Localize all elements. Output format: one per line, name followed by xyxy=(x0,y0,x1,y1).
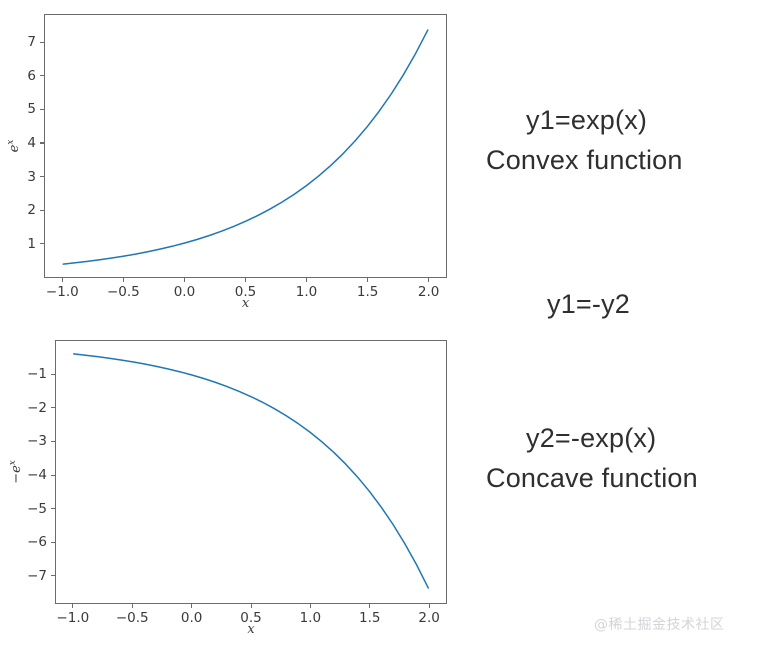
x-tick-label: 1.0 xyxy=(296,284,317,300)
x-tick-mark xyxy=(251,604,252,608)
x-tick-mark xyxy=(72,604,73,608)
annotation-convex-formula: y1=exp(x) xyxy=(486,101,683,141)
y-axis-label-top: ex xyxy=(6,140,22,153)
x-tick-mark xyxy=(62,278,63,282)
annotation-relation-text: y1=-y2 xyxy=(547,285,630,325)
plot-area-bottom xyxy=(55,340,447,604)
y-tick-label: 3 xyxy=(0,169,36,185)
y-tick-mark xyxy=(51,542,55,543)
ylabel-exponent-top: x xyxy=(6,140,16,145)
x-tick-label: 1.0 xyxy=(300,610,321,626)
y-tick-label: −2 xyxy=(0,400,47,416)
x-tick-label: 1.5 xyxy=(357,284,378,300)
annotation-concave-caption: Concave function xyxy=(486,459,698,499)
axes-bottom-neg-exp: −1.0−0.50.00.51.01.52.0−1−2−3−4−5−6−7 x … xyxy=(0,326,470,656)
x-tick-mark xyxy=(429,604,430,608)
y-axis-label-bottom: −ex xyxy=(8,460,24,484)
y-tick-mark xyxy=(51,441,55,442)
y-tick-mark xyxy=(40,210,44,211)
x-tick-label: −1.0 xyxy=(46,284,79,300)
y-tick-mark xyxy=(40,42,44,43)
x-axis-label-bottom: x xyxy=(247,622,254,637)
y-tick-label: 7 xyxy=(0,34,36,50)
y-tick-mark xyxy=(40,75,44,76)
y-tick-mark xyxy=(40,142,44,143)
ylabel-exponent-bottom: x xyxy=(8,460,18,465)
x-tick-mark xyxy=(306,278,307,282)
curve-neg-exp-x xyxy=(56,341,446,603)
y-tick-label: −7 xyxy=(0,568,47,584)
y-tick-label: −5 xyxy=(0,501,47,517)
y-tick-mark xyxy=(40,109,44,110)
annotation-concave: y2=-exp(x) Concave function xyxy=(486,419,698,499)
watermark-text: @稀土掘金技术社区 xyxy=(594,614,725,634)
annotation-concave-formula: y2=-exp(x) xyxy=(486,419,698,459)
x-axis-label-top: x xyxy=(242,296,249,311)
y-tick-mark xyxy=(51,508,55,509)
x-tick-mark xyxy=(428,278,429,282)
y-tick-label: −1 xyxy=(0,366,47,382)
y-tick-label: 1 xyxy=(0,236,36,252)
annotation-convex: y1=exp(x) Convex function xyxy=(486,101,683,181)
ylabel-base-bottom: −e xyxy=(9,465,24,484)
x-tick-mark xyxy=(245,278,246,282)
annotation-relation: y1=-y2 xyxy=(547,285,630,325)
y-tick-mark xyxy=(51,374,55,375)
data-line xyxy=(63,30,428,264)
x-tick-mark xyxy=(132,604,133,608)
y-tick-label: −6 xyxy=(0,534,47,550)
data-line xyxy=(74,354,429,588)
x-tick-mark xyxy=(310,604,311,608)
y-tick-label: −3 xyxy=(0,433,47,449)
x-tick-label: 1.5 xyxy=(359,610,380,626)
x-tick-mark xyxy=(123,278,124,282)
x-tick-label: −0.5 xyxy=(107,284,140,300)
x-tick-mark xyxy=(184,278,185,282)
x-tick-label: 2.0 xyxy=(418,284,439,300)
x-tick-label: 0.0 xyxy=(181,610,202,626)
x-tick-label: 2.0 xyxy=(418,610,439,626)
y-tick-mark xyxy=(51,407,55,408)
x-tick-label: 0.0 xyxy=(174,284,195,300)
y-tick-label: 6 xyxy=(0,68,36,84)
y-tick-mark xyxy=(40,243,44,244)
axes-top-exp: −1.0−0.50.00.51.01.52.01234567 x ex xyxy=(0,0,470,320)
curve-exp-x xyxy=(45,15,446,277)
matplotlib-figure: −1.0−0.50.00.51.01.52.01234567 x ex −1.0… xyxy=(0,0,773,665)
y-tick-mark xyxy=(51,575,55,576)
x-tick-label: −0.5 xyxy=(116,610,149,626)
ylabel-base-top: e xyxy=(7,145,22,153)
x-tick-mark xyxy=(369,604,370,608)
y-tick-mark xyxy=(51,475,55,476)
y-tick-mark xyxy=(40,176,44,177)
plot-area-top xyxy=(44,14,447,278)
annotation-convex-caption: Convex function xyxy=(486,141,683,181)
x-tick-label: −1.0 xyxy=(56,610,89,626)
x-tick-mark xyxy=(191,604,192,608)
x-tick-mark xyxy=(367,278,368,282)
y-tick-label: 2 xyxy=(0,202,36,218)
y-tick-label: 5 xyxy=(0,101,36,117)
